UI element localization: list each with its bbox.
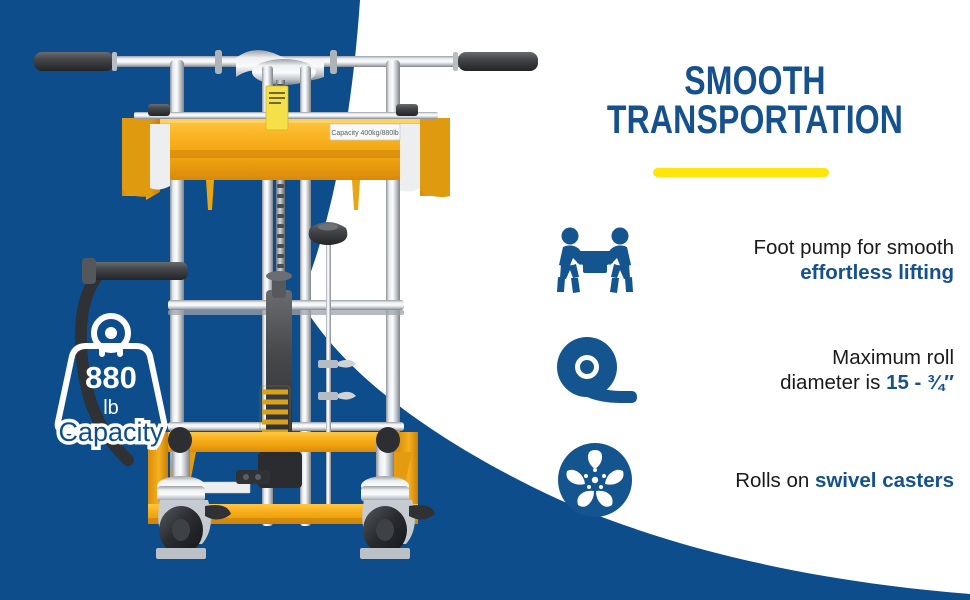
svg-text:Capacity 400kg/880lb: Capacity 400kg/880lb (331, 130, 398, 137)
feature-item-swivel-casters: Rolls on swivel casters (540, 425, 970, 535)
right-content-panel: SMOOTH TRANSPORTATION (540, 0, 970, 600)
feature-1-line-1: Foot pump for smooth (650, 235, 954, 260)
feature-item-foot-pump: Foot pump for smooth effortless lifting (540, 205, 970, 315)
feature-3-prefix: Rolls on (735, 469, 815, 492)
feature-3-highlight: swivel casters (815, 469, 954, 492)
page-title: SMOOTH TRANSPORTATION (583, 62, 927, 140)
feature-2-line-1: Maximum roll (650, 345, 954, 370)
capacity-value: 880 (85, 360, 137, 395)
capacity-label: Capacity (58, 417, 164, 447)
feature-text: Foot pump for smooth effortless lifting (650, 235, 970, 285)
feature-text: Maximum roll diameter is 15 - ¾″ (650, 345, 970, 395)
title-underline-accent (653, 168, 829, 177)
capacity-sticker: Capacity 400kg/880lb (330, 124, 400, 140)
release-rod (309, 222, 356, 520)
roll-of-material-icon (540, 335, 650, 405)
brake-lever (409, 505, 435, 520)
feature-2-highlight: 15 - ¾″ (886, 371, 954, 394)
feature-2-prefix: diameter is (780, 371, 886, 394)
handlebar-assembly (34, 50, 538, 85)
two-people-lifting-box-icon (540, 227, 650, 293)
pump-valve-detail (236, 470, 270, 484)
feature-1-highlight: effortless lifting (650, 260, 954, 285)
capacity-badge: 880 lb Capacity (36, 300, 186, 450)
title-line-1: SMOOTH (684, 59, 825, 103)
feature-item-roll-diameter: Maximum roll diameter is 15 - ¾″ (540, 315, 970, 425)
capacity-unit: lb (103, 397, 119, 419)
feature-text: Rolls on swivel casters (650, 468, 970, 493)
title-line-2: TRANSPORTATION (583, 101, 927, 140)
feature-list: Foot pump for smooth effortless lifting (540, 205, 970, 535)
feature-3-line-1: Rolls on swivel casters (650, 468, 954, 493)
feature-2-line-2: diameter is 15 - ¾″ (650, 370, 954, 395)
infographic-canvas: Capacity 400kg/880lb (0, 0, 970, 600)
swivel-caster-wheel-icon (540, 440, 650, 520)
